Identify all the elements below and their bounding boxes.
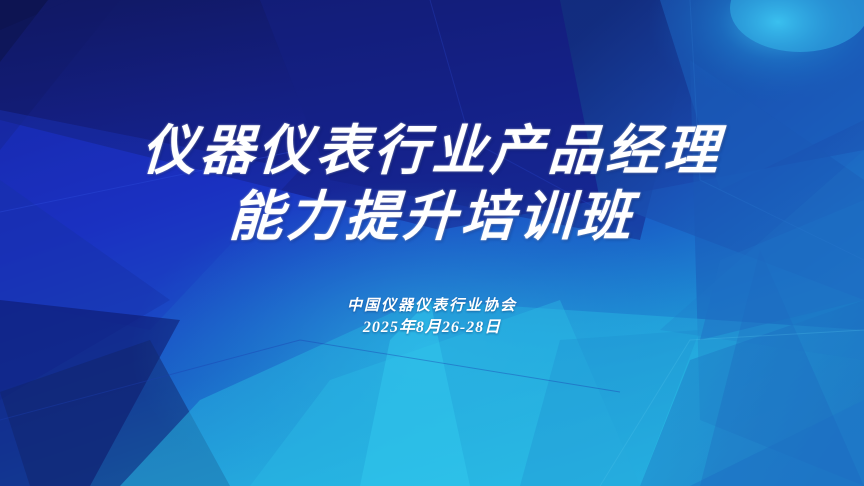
- main-title: 仪器仪表行业产品经理 能力提升培训班: [142, 118, 722, 250]
- subtitle: 中国仪器仪表行业协会 2025年8月26-28日: [347, 296, 517, 338]
- organizer-name: 中国仪器仪表行业协会: [347, 296, 517, 317]
- presentation-title-slide: 仪器仪表行业产品经理 能力提升培训班 中国仪器仪表行业协会 2025年8月26-…: [0, 0, 864, 486]
- event-date: 2025年8月26-28日: [347, 317, 517, 338]
- title-line-1: 仪器仪表行业产品经理: [140, 118, 723, 184]
- title-line-2: 能力提升培训班: [140, 184, 723, 250]
